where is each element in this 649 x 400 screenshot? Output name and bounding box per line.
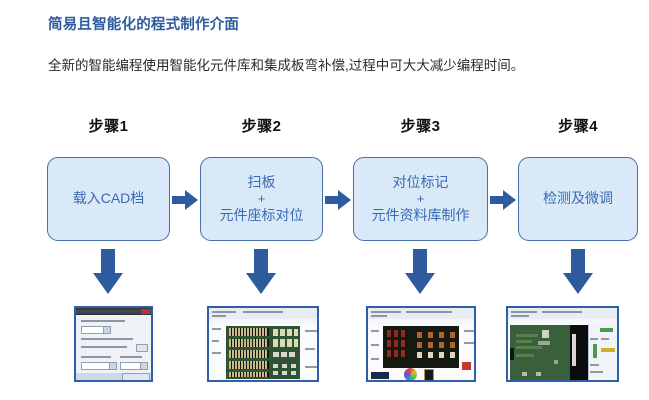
inspection-canvas (508, 324, 617, 380)
dialog-title-bar (76, 308, 151, 315)
pcb-scan-view-thumbnail[interactable] (207, 306, 319, 382)
step-box-2-line-3: 元件座标对位 (220, 206, 304, 225)
thumbnail-image (508, 308, 617, 380)
flow-arrow-down-2 (246, 249, 276, 294)
step-box-4-line-1: 检测及微调 (543, 189, 613, 208)
flow-arrow-down-1 (93, 249, 123, 294)
step-box-1[interactable]: 载入CAD档 (47, 157, 170, 241)
thumbnail-image (76, 308, 151, 380)
close-icon (141, 309, 150, 314)
step-box-3-line-3: 元件资料库制作 (372, 206, 470, 225)
step-box-2[interactable]: 扫板 + 元件座标对位 (200, 157, 323, 241)
flow-arrow-down-4 (563, 249, 593, 294)
arrow-head (405, 273, 435, 294)
step-label-3: 步骤3 (353, 115, 488, 136)
flow-arrow-down-3 (405, 249, 435, 294)
arrow-shaft (101, 249, 115, 275)
arrow-head (246, 273, 276, 294)
inspection-tuning-view-thumbnail[interactable] (506, 306, 619, 382)
step-box-3-line-1: 对位标记 (393, 173, 449, 192)
marking-canvas (368, 324, 474, 380)
arrow-head (503, 190, 516, 210)
thumbnail-image (368, 308, 474, 380)
step-box-1-line-1: 载入CAD档 (73, 189, 145, 208)
arrow-head (185, 190, 198, 210)
arrow-shaft (254, 249, 268, 275)
step-box-2-line-2: + (258, 192, 266, 206)
scan-canvas (209, 324, 317, 380)
step-box-4[interactable]: 检测及微调 (518, 157, 638, 241)
step-label-2: 步骤2 (200, 115, 323, 136)
flow-arrow-right-2 (325, 190, 351, 210)
step-box-3[interactable]: 对位标记 + 元件资料库制作 (353, 157, 488, 241)
color-wheel-icon (404, 368, 417, 381)
fiducial-marking-view-thumbnail[interactable] (366, 306, 476, 382)
arrow-head (338, 190, 351, 210)
step-label-1: 步骤1 (47, 115, 170, 136)
arrow-head (563, 273, 593, 294)
dialog-body (76, 315, 151, 373)
arrow-shaft (413, 249, 427, 275)
step-label-4: 步骤4 (518, 115, 638, 136)
process-flow-diagram: 步骤1 载入CAD档 步骤2 扫板 + 元件座标对位 步骤3 对位标记 + 元件… (0, 0, 649, 400)
arrow-head (93, 273, 123, 294)
step-box-3-line-2: + (417, 192, 425, 206)
flow-arrow-right-1 (172, 190, 198, 210)
step-box-2-line-1: 扫板 (248, 173, 276, 192)
cad-import-dialog-thumbnail[interactable] (74, 306, 153, 382)
dialog-footer (76, 373, 151, 380)
flow-arrow-right-3 (490, 190, 516, 210)
thumbnail-image (209, 308, 317, 380)
arrow-shaft (571, 249, 585, 275)
